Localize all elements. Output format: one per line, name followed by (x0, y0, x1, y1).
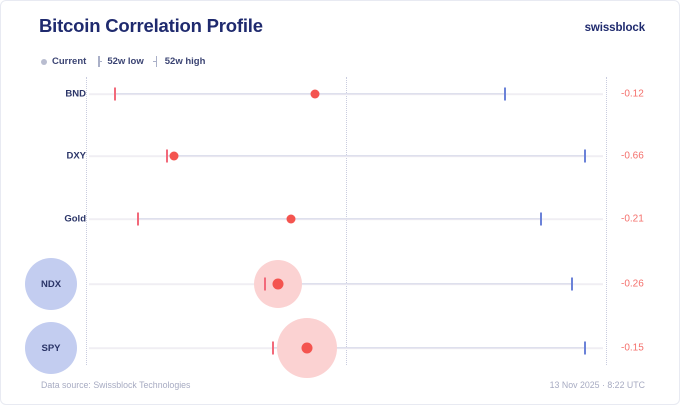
current-dot-icon (41, 59, 47, 65)
range-line (167, 155, 586, 156)
row-label-bnd[interactable]: BND (43, 89, 86, 100)
high-tick-marker[interactable] (584, 342, 586, 355)
gridline-1 (606, 77, 607, 365)
high-tick-marker[interactable] (571, 278, 573, 291)
row-value-label: -0.15 (621, 343, 644, 354)
timestamp-text: 13 Nov 2025 · 8:22 UTC (550, 380, 645, 390)
low-tick-marker[interactable] (137, 213, 139, 226)
gridline--1 (86, 77, 87, 365)
range-line (138, 218, 541, 219)
legend-item-low: 52w low (95, 56, 143, 67)
row-label-spy[interactable]: SPY (25, 322, 77, 374)
low-tick-marker[interactable] (114, 88, 116, 101)
current-value-dot[interactable] (170, 152, 179, 161)
low-tick-marker[interactable] (264, 278, 266, 291)
row-label-ndx[interactable]: NDX (25, 258, 77, 310)
legend-item-high: 52w high (153, 56, 206, 67)
high-tick-marker[interactable] (504, 88, 506, 101)
row-label-gold[interactable]: Gold (43, 214, 86, 225)
gridline-0 (346, 77, 347, 365)
chart-legend: Current 52w low 52w high (41, 56, 205, 67)
legend-label-high: 52w high (165, 56, 206, 67)
low-tick-marker[interactable] (272, 342, 274, 355)
high-tick-marker[interactable] (540, 213, 542, 226)
low-tick-icon (95, 56, 102, 67)
legend-label-low: 52w low (107, 56, 143, 67)
legend-item-current: Current (41, 56, 86, 67)
current-value-dot[interactable] (310, 90, 319, 99)
row-value-label: -0.66 (621, 151, 644, 162)
row-value-label: -0.26 (621, 279, 644, 290)
brand-logo: swissblock (585, 22, 645, 34)
row-label-dxy[interactable]: DXY (43, 151, 86, 162)
legend-label-current: Current (52, 56, 86, 67)
current-value-dot[interactable] (287, 215, 296, 224)
high-tick-icon (153, 56, 160, 67)
range-line (265, 283, 572, 284)
row-value-label: -0.21 (621, 214, 644, 225)
correlation-chart-card: Bitcoin Correlation Profile swissblock C… (0, 0, 680, 405)
current-value-dot[interactable] (302, 343, 313, 354)
high-tick-marker[interactable] (584, 150, 586, 163)
row-value-label: -0.12 (621, 89, 644, 100)
low-tick-marker[interactable] (166, 150, 168, 163)
plot-area: BND-0.12DXY-0.66Gold-0.21NDX-0.26SPY-0.1… (1, 77, 680, 367)
page-title: Bitcoin Correlation Profile (39, 15, 263, 37)
data-source-text: Data source: Swissblock Technologies (41, 380, 190, 390)
current-value-dot[interactable] (273, 279, 284, 290)
